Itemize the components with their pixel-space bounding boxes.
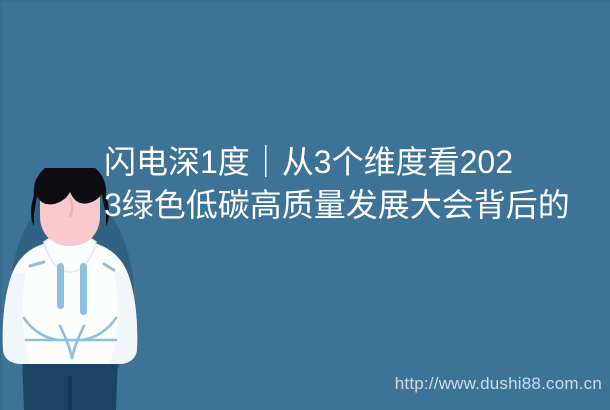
cover-title: 闪电深1度｜从3个维度看202 3绿色低碳高质量发展大会背后的 — [104, 141, 604, 227]
card-top-edge — [0, 0, 610, 2]
article-cover-card: 闪电深1度｜从3个维度看202 3绿色低碳高质量发展大会背后的 http://w… — [0, 0, 610, 410]
site-url-watermark: http://www.dushi88.com.cn — [395, 374, 602, 394]
pants — [22, 356, 118, 410]
title-line-1: 闪电深1度｜从3个维度看202 — [104, 141, 604, 184]
title-line-2: 3绿色低碳高质量发展大会背后的 — [104, 184, 604, 227]
